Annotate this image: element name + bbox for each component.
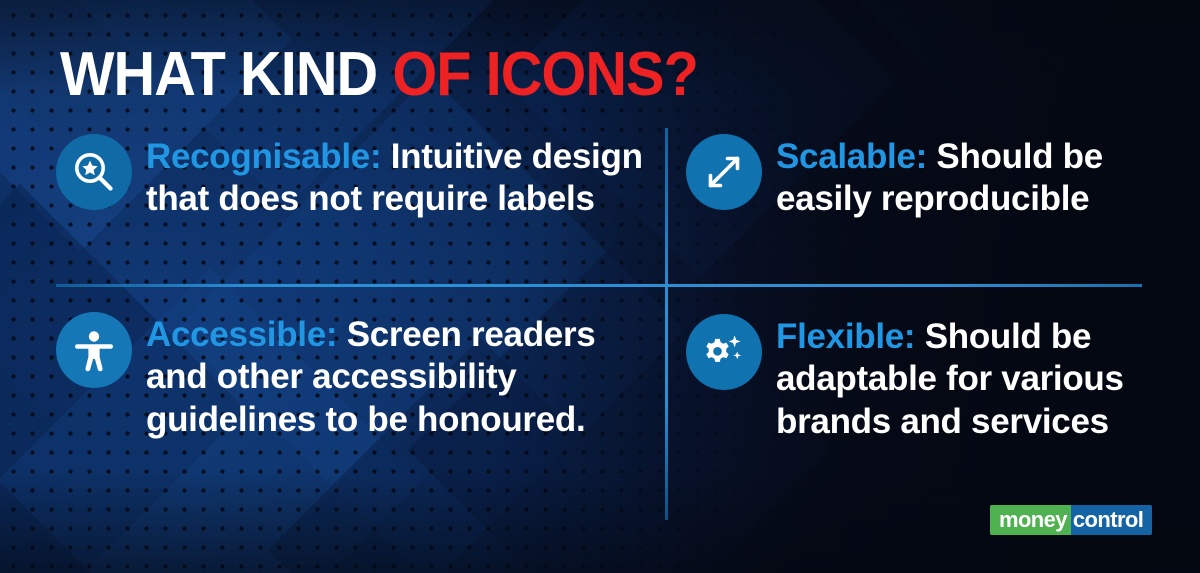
title-white-text: WHAT KIND (60, 40, 392, 109)
point-accessible: Accessible: Screen readers and other acc… (56, 310, 656, 441)
logo-control-text: control (1071, 505, 1152, 535)
infographic-canvas: WHAT KIND OF ICONS? Recognisable: Intuit… (0, 0, 1200, 573)
point-text: Flexible: Should be adaptable for variou… (776, 312, 1156, 443)
point-text: Accessible: Screen readers and other acc… (146, 310, 656, 441)
page-title: WHAT KIND OF ICONS? (60, 44, 698, 106)
accessibility-person-icon (56, 312, 132, 388)
point-text: Recognisable: Intuitive design that does… (146, 132, 656, 221)
title-red-text: OF ICONS? (392, 40, 698, 109)
point-keyword: Flexible: (776, 317, 915, 356)
vertical-divider (665, 128, 668, 520)
horizontal-divider (56, 284, 1142, 287)
point-scalable: Scalable: Should be easily reproducible (686, 132, 1156, 221)
point-text: Scalable: Should be easily reproducible (776, 132, 1156, 221)
logo-money-text: money (990, 505, 1071, 535)
gear-sparkle-icon (686, 314, 762, 390)
point-keyword: Accessible: (146, 315, 337, 354)
resize-diagonal-arrows-icon (686, 134, 762, 210)
magnifier-star-icon (56, 134, 132, 210)
point-recognisable: Recognisable: Intuitive design that does… (56, 132, 656, 221)
point-keyword: Scalable: (776, 137, 927, 176)
moneycontrol-logo[interactable]: money control (990, 505, 1152, 535)
point-flexible: Flexible: Should be adaptable for variou… (686, 312, 1156, 443)
point-keyword: Recognisable: (146, 137, 381, 176)
